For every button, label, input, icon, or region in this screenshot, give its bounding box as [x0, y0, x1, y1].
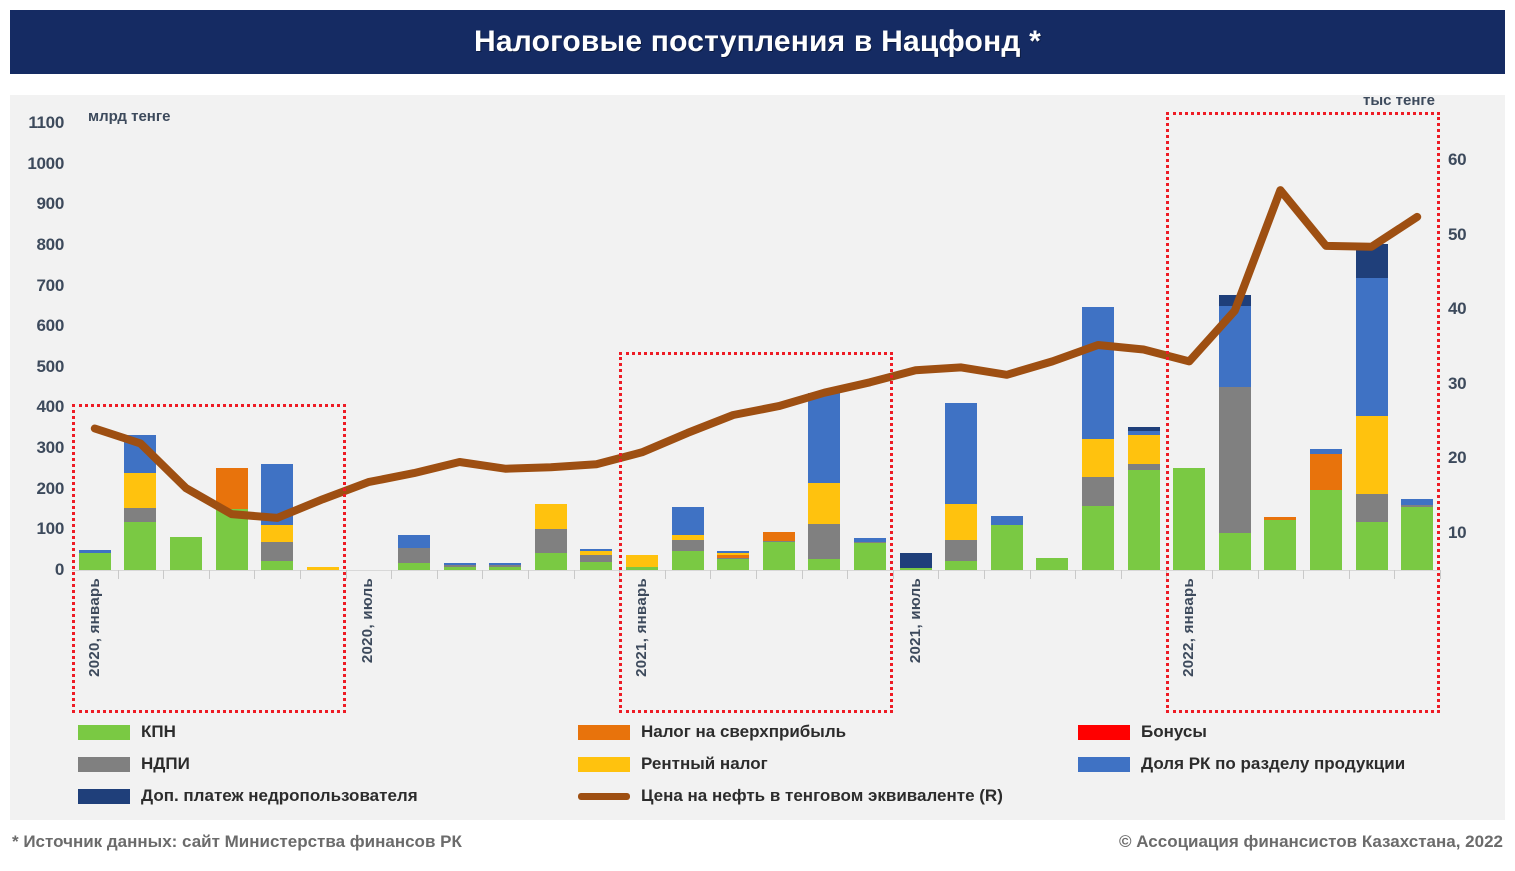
bar-segment-0 — [900, 568, 932, 570]
x-axis-tick — [482, 570, 483, 579]
copyright-note: © Ассоциация финансистов Казахстана, 202… — [1119, 832, 1503, 852]
right-axis-tick: 60 — [1448, 150, 1500, 170]
bar-segment-1 — [1401, 505, 1433, 507]
left-axis-tick: 200 — [12, 479, 64, 499]
source-note: * Источник данных: сайт Министерства фин… — [12, 832, 462, 852]
bar-segment-0 — [1356, 522, 1388, 570]
left-axis-tick: 400 — [12, 397, 64, 417]
bar-column[interactable] — [580, 90, 612, 570]
right-y-axis: 605040302010 — [1448, 95, 1508, 820]
left-axis-tick: 600 — [12, 316, 64, 336]
right-axis-tick: 20 — [1448, 448, 1500, 468]
bar-column[interactable] — [626, 90, 658, 570]
x-axis-tick — [254, 570, 255, 579]
bar-segment-3 — [717, 553, 749, 555]
x-axis-tick — [163, 570, 164, 579]
legend-item-dop-platezh[interactable]: Доп. платеж недропользователя — [78, 786, 418, 806]
bar-segment-5 — [489, 563, 521, 565]
bar-segment-1 — [580, 555, 612, 562]
bar-segment-5 — [398, 535, 430, 548]
bar-segment-3 — [124, 473, 156, 508]
right-axis-tick: 30 — [1448, 374, 1500, 394]
bar-segment-5 — [717, 551, 749, 553]
dolya-rk-swatch-icon — [1078, 757, 1130, 772]
kpn-swatch-icon — [78, 725, 130, 740]
bar-segment-2 — [717, 555, 749, 558]
bar-column[interactable] — [945, 90, 977, 570]
left-axis-tick: 1000 — [12, 154, 64, 174]
x-axis-tick — [847, 570, 848, 579]
bar-segment-0 — [79, 553, 111, 570]
bar-segment-3 — [580, 551, 612, 555]
bar-segment-3 — [945, 504, 977, 540]
bar-segment-0 — [261, 561, 293, 570]
x-axis-tick — [1303, 570, 1304, 579]
bar-column[interactable] — [763, 90, 795, 570]
bar-column[interactable] — [717, 90, 749, 570]
rentnyi-swatch-icon — [578, 757, 630, 772]
bar-segment-0 — [1264, 520, 1296, 570]
bar-segment-1 — [398, 548, 430, 562]
bar-segment-0 — [398, 563, 430, 570]
x-axis-tick — [802, 570, 803, 579]
bar-segment-0 — [991, 525, 1023, 570]
x-axis-label: 2021, июль — [907, 578, 924, 663]
bar-column[interactable] — [398, 90, 430, 570]
bar-column[interactable] — [444, 90, 476, 570]
left-axis-tick: 1100 — [12, 113, 64, 133]
chart-title-bar: Налоговые поступления в Нацфонд * — [10, 10, 1505, 74]
bar-segment-5 — [444, 563, 476, 565]
x-axis-tick — [391, 570, 392, 579]
x-axis-tick — [1258, 570, 1259, 579]
dop-platezh-swatch-icon — [78, 789, 130, 804]
bar-segment-1 — [717, 558, 749, 560]
x-axis-tick — [756, 570, 757, 579]
bar-segment-5 — [79, 550, 111, 553]
bar-segment-0 — [1082, 506, 1114, 570]
x-axis-tick — [665, 570, 666, 579]
bar-segment-5 — [1310, 449, 1342, 454]
bar-segment-5 — [261, 464, 293, 525]
x-axis-tick — [574, 570, 575, 579]
bar-segment-0 — [216, 509, 248, 570]
oil-price-swatch-icon — [578, 793, 630, 800]
x-axis-tick — [528, 570, 529, 579]
x-axis-tick — [1121, 570, 1122, 579]
bar-segment-0 — [945, 561, 977, 570]
legend-label: Цена на нефть в тенговом эквиваленте (R) — [641, 786, 1003, 806]
bar-segment-5 — [1356, 278, 1388, 416]
bar-segment-5 — [672, 507, 704, 535]
x-axis-tick — [1440, 570, 1441, 579]
x-axis-tick — [984, 570, 985, 579]
bar-column[interactable] — [854, 90, 886, 570]
bar-column[interactable] — [352, 90, 384, 570]
bonusy-swatch-icon — [1078, 725, 1130, 740]
x-axis-tick — [619, 570, 620, 579]
x-axis-tick — [710, 570, 711, 579]
bar-segment-5 — [1401, 499, 1433, 505]
legend-item-rentnyi[interactable]: Рентный налог — [578, 754, 768, 774]
bar-segment-3 — [1356, 416, 1388, 493]
bar-segment-5 — [991, 516, 1023, 525]
right-axis-tick: 10 — [1448, 523, 1500, 543]
legend-item-kpn[interactable]: КПН — [78, 722, 176, 742]
legend-item-ndpi[interactable]: НДПИ — [78, 754, 190, 774]
bar-column[interactable] — [1401, 90, 1433, 570]
x-axis-tick — [1212, 570, 1213, 579]
left-axis-tick: 300 — [12, 438, 64, 458]
bar-segment-0 — [1173, 468, 1205, 570]
bar-segment-3 — [535, 504, 567, 529]
bar-segment-0 — [1401, 507, 1433, 570]
bar-segment-5 — [945, 403, 977, 505]
bar-column[interactable] — [1219, 90, 1251, 570]
legend-label: КПН — [141, 722, 176, 742]
bar-segment-3 — [261, 525, 293, 542]
x-axis-label: 2022, январь — [1180, 578, 1197, 677]
left-y-axis: 110010009008007006005004003002001000 — [8, 95, 64, 820]
x-axis-label: 2020, июль — [359, 578, 376, 663]
bar-segment-0 — [1036, 558, 1068, 570]
sverhpribyl-swatch-icon — [578, 725, 630, 740]
bar-column[interactable] — [1264, 90, 1296, 570]
x-axis-tick — [1030, 570, 1031, 579]
bar-segment-0 — [1219, 533, 1251, 570]
bar-column[interactable] — [672, 90, 704, 570]
bar-column[interactable] — [1310, 90, 1342, 570]
bar-segment-1 — [444, 565, 476, 567]
bar-segment-1 — [945, 540, 977, 561]
bar-segment-0 — [717, 559, 749, 570]
bar-segment-1 — [1128, 464, 1160, 470]
bar-segment-1 — [535, 529, 567, 553]
x-axis-label: 2020, январь — [86, 578, 103, 677]
x-axis-label: 2021, январь — [633, 578, 650, 677]
left-axis-tick: 500 — [12, 357, 64, 377]
right-axis-tick: 40 — [1448, 299, 1500, 319]
legend-item-sverhpribyl[interactable]: Налог на сверхприбыль — [578, 722, 846, 742]
bar-column[interactable] — [216, 90, 248, 570]
legend-label: Доп. платеж недропользователя — [141, 786, 418, 806]
bar-column[interactable] — [991, 90, 1023, 570]
bar-segment-0 — [580, 562, 612, 570]
bar-segment-3 — [672, 535, 704, 540]
bar-segment-6 — [1219, 295, 1251, 306]
bar-segment-0 — [626, 567, 658, 570]
bar-segment-5 — [1128, 431, 1160, 435]
x-axis-tick — [300, 570, 301, 579]
bar-segment-5 — [1219, 306, 1251, 387]
left-axis-tick: 900 — [12, 194, 64, 214]
x-axis-tick — [346, 570, 347, 579]
bar-segment-5 — [854, 538, 886, 542]
bar-column[interactable] — [1036, 90, 1068, 570]
legend-label: Доля РК по разделу продукции — [1141, 754, 1405, 774]
bar-segment-3 — [626, 555, 658, 567]
bar-segment-0 — [1310, 490, 1342, 570]
bar-segment-1 — [672, 540, 704, 551]
bar-segment-0 — [170, 537, 202, 570]
bar-segment-0 — [535, 553, 567, 570]
bar-segment-1 — [1082, 477, 1114, 505]
left-axis-tick: 100 — [12, 519, 64, 539]
bar-column[interactable] — [1082, 90, 1114, 570]
bar-segment-6 — [1356, 244, 1388, 279]
bar-segment-0 — [672, 551, 704, 570]
left-axis-tick: 0 — [12, 560, 64, 580]
bar-segment-1 — [124, 508, 156, 522]
bar-column[interactable] — [1128, 90, 1160, 570]
legend-label: Рентный налог — [641, 754, 768, 774]
x-axis-tick — [1394, 570, 1395, 579]
x-axis-tick — [209, 570, 210, 579]
bar-segment-5 — [124, 435, 156, 474]
bar-segment-5 — [808, 393, 840, 483]
bar-segment-3 — [808, 483, 840, 524]
bar-column[interactable] — [261, 90, 293, 570]
bar-segment-6 — [900, 553, 932, 568]
bar-segment-5 — [1082, 307, 1114, 439]
bar-segment-1 — [261, 542, 293, 562]
bar-segment-0 — [808, 559, 840, 570]
plot-area — [72, 95, 1440, 575]
right-axis-tick: 50 — [1448, 225, 1500, 245]
bar-column[interactable] — [79, 90, 111, 570]
left-axis-tick: 800 — [12, 235, 64, 255]
legend-item-dolya-rk[interactable]: Доля РК по разделу продукции — [1078, 754, 1405, 774]
x-axis-tick — [1166, 570, 1167, 579]
bar-segment-2 — [216, 468, 248, 509]
bar-column[interactable] — [1356, 90, 1388, 570]
x-axis-tick — [1075, 570, 1076, 579]
ndpi-swatch-icon — [78, 757, 130, 772]
bar-segment-3 — [1128, 435, 1160, 464]
x-axis-tick — [893, 570, 894, 579]
x-axis-tick — [1349, 570, 1350, 579]
bar-column[interactable] — [124, 90, 156, 570]
bar-segment-0 — [763, 542, 795, 570]
chart-legend: КПННалог на сверхприбыльБонусыНДПИРентны… — [78, 722, 1478, 817]
legend-item-bonusy[interactable]: Бонусы — [1078, 722, 1207, 742]
left-axis-tick: 700 — [12, 276, 64, 296]
x-axis-tick — [437, 570, 438, 579]
bar-segment-0 — [1128, 470, 1160, 570]
bar-segment-2 — [763, 532, 795, 541]
legend-item-oil-price[interactable]: Цена на нефть в тенговом эквиваленте (R) — [578, 786, 1003, 806]
bar-segment-1 — [1219, 387, 1251, 533]
legend-label: Налог на сверхприбыль — [641, 722, 846, 742]
bar-segment-1 — [808, 524, 840, 559]
bar-segment-0 — [444, 567, 476, 570]
bar-segment-5 — [580, 549, 612, 551]
bar-column[interactable] — [808, 90, 840, 570]
bar-segment-0 — [124, 522, 156, 570]
bar-segment-1 — [489, 565, 521, 567]
bar-column[interactable] — [170, 90, 202, 570]
x-axis-tick — [118, 570, 119, 579]
legend-label: НДПИ — [141, 754, 190, 774]
bar-segment-0 — [489, 567, 521, 570]
bar-segment-3 — [307, 567, 339, 570]
bar-column[interactable] — [1173, 90, 1205, 570]
bar-segment-6 — [1128, 427, 1160, 430]
x-axis-tick — [938, 570, 939, 579]
bar-column[interactable] — [900, 90, 932, 570]
page-title: Налоговые поступления в Нацфонд * — [474, 25, 1041, 59]
bar-segment-2 — [1310, 454, 1342, 490]
bar-column[interactable] — [489, 90, 521, 570]
bar-segment-1 — [1356, 494, 1388, 522]
bar-column[interactable] — [535, 90, 567, 570]
bar-segment-2 — [1264, 517, 1296, 520]
bar-segment-0 — [854, 543, 886, 570]
bar-segment-3 — [1082, 439, 1114, 478]
legend-label: Бонусы — [1141, 722, 1207, 742]
bar-column[interactable] — [307, 90, 339, 570]
